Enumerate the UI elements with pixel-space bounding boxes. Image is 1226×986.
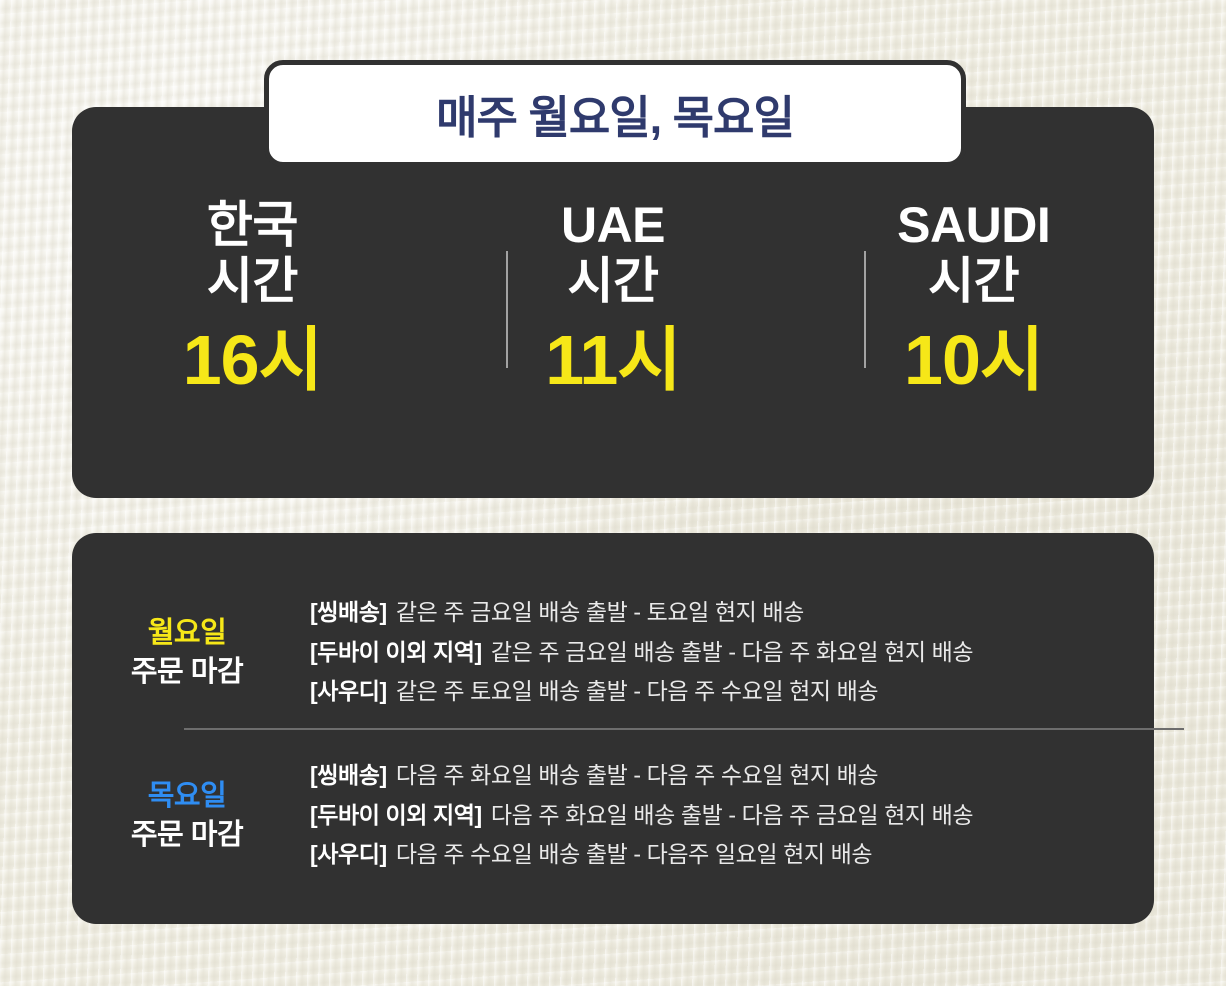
timezone-column-korea: 한국 시간 16시	[72, 197, 433, 395]
schedule-line: [사우디]같은 주 토요일 배송 출발 - 다음 주 수요일 현지 배송	[310, 672, 1154, 712]
schedule-line-text: 다음 주 수요일 배송 출발 - 다음주 일요일 현지 배송	[396, 841, 872, 867]
schedule-line-text: 다음 주 화요일 배송 출발 - 다음 주 수요일 현지 배송	[396, 762, 878, 788]
schedule-row: 월요일 주문 마감 [씽배송]같은 주 금요일 배송 출발 - 토요일 현지 배…	[72, 571, 1154, 734]
timezone-column-uae: UAE 시간 11시	[433, 197, 794, 395]
timezone-region-uae-line2: 시간	[568, 253, 659, 309]
schedule-line: [두바이 이외 지역]같은 주 금요일 배송 출발 - 다음 주 화요일 현지 …	[310, 633, 1154, 673]
schedule-line-text: 다음 주 화요일 배송 출발 - 다음 주 금요일 현지 배송	[491, 802, 973, 828]
schedule-line-tag: [두바이 이외 지역]	[310, 639, 482, 665]
timezone-region-uae: UAE 시간	[561, 197, 665, 309]
schedule-lines-monday: [씽배송]같은 주 금요일 배송 출발 - 토요일 현지 배송 [두바이 이외 …	[302, 593, 1154, 712]
schedule-lines-thursday: [씽배송]다음 주 화요일 배송 출발 - 다음 주 수요일 현지 배송 [두바…	[302, 756, 1154, 875]
schedule-line: [두바이 이외 지역]다음 주 화요일 배송 출발 - 다음 주 금요일 현지 …	[310, 796, 1154, 836]
timezone-region-saudi-line2: 시간	[928, 253, 1019, 309]
schedule-line: [사우디]다음 주 수요일 배송 출발 - 다음주 일요일 현지 배송	[310, 835, 1154, 875]
timezone-region-korea: 한국 시간	[207, 197, 298, 309]
schedule-line-tag: [씽배송]	[310, 762, 387, 788]
timezone-region-saudi-line1: SAUDI	[897, 197, 1050, 253]
header-title-card: 매주 월요일, 목요일	[264, 60, 966, 167]
timezone-column-divider-2	[864, 251, 866, 368]
page-title: 매주 월요일, 목요일	[436, 81, 794, 146]
schedule-subtitle-thursday: 주문 마감	[72, 818, 302, 852]
timezone-region-saudi: SAUDI 시간	[897, 197, 1050, 309]
timezone-column-divider-1	[506, 251, 508, 368]
schedule-section-divider	[184, 728, 1184, 730]
schedule-day-thursday: 목요일	[72, 779, 302, 813]
schedule-line-text: 같은 주 토요일 배송 출발 - 다음 주 수요일 현지 배송	[396, 678, 878, 704]
timezone-region-korea-line2: 시간	[207, 253, 298, 309]
timezone-columns: 한국 시간 16시 UAE 시간 11시 SAUDI 시간 10시	[72, 197, 1154, 395]
schedule-day-monday: 월요일	[72, 616, 302, 650]
infographic-stage: 한국 시간 16시 UAE 시간 11시 SAUDI 시간 10시	[0, 0, 1226, 986]
schedule-line: [씽배송]다음 주 화요일 배송 출발 - 다음 주 수요일 현지 배송	[310, 756, 1154, 796]
timezone-value-uae: 11시	[545, 325, 680, 395]
schedule-line-text: 같은 주 금요일 배송 출발 - 다음 주 화요일 현지 배송	[491, 639, 973, 665]
timezone-region-korea-line1: 한국	[207, 197, 298, 253]
schedule-subtitle-monday: 주문 마감	[72, 655, 302, 689]
schedule-row: 목요일 주문 마감 [씽배송]다음 주 화요일 배송 출발 - 다음 주 수요일…	[72, 734, 1154, 897]
schedule-line-tag: [두바이 이외 지역]	[310, 802, 482, 828]
schedule-line-tag: [사우디]	[310, 678, 387, 704]
timezone-value-korea: 16시	[183, 325, 322, 395]
schedule-panel: 월요일 주문 마감 [씽배송]같은 주 금요일 배송 출발 - 토요일 현지 배…	[72, 533, 1154, 924]
schedule-line-tag: [씽배송]	[310, 599, 387, 625]
timezone-region-uae-line1: UAE	[561, 197, 665, 253]
schedule-row-label-thursday: 목요일 주문 마감	[72, 779, 302, 851]
timezone-column-saudi: SAUDI 시간 10시	[793, 197, 1154, 395]
schedule-line-text: 같은 주 금요일 배송 출발 - 토요일 현지 배송	[396, 599, 804, 625]
schedule-row-label-monday: 월요일 주문 마감	[72, 616, 302, 688]
schedule-line: [씽배송]같은 주 금요일 배송 출발 - 토요일 현지 배송	[310, 593, 1154, 633]
schedule-line-tag: [사우디]	[310, 841, 387, 867]
timezone-value-saudi: 10시	[904, 325, 1043, 395]
